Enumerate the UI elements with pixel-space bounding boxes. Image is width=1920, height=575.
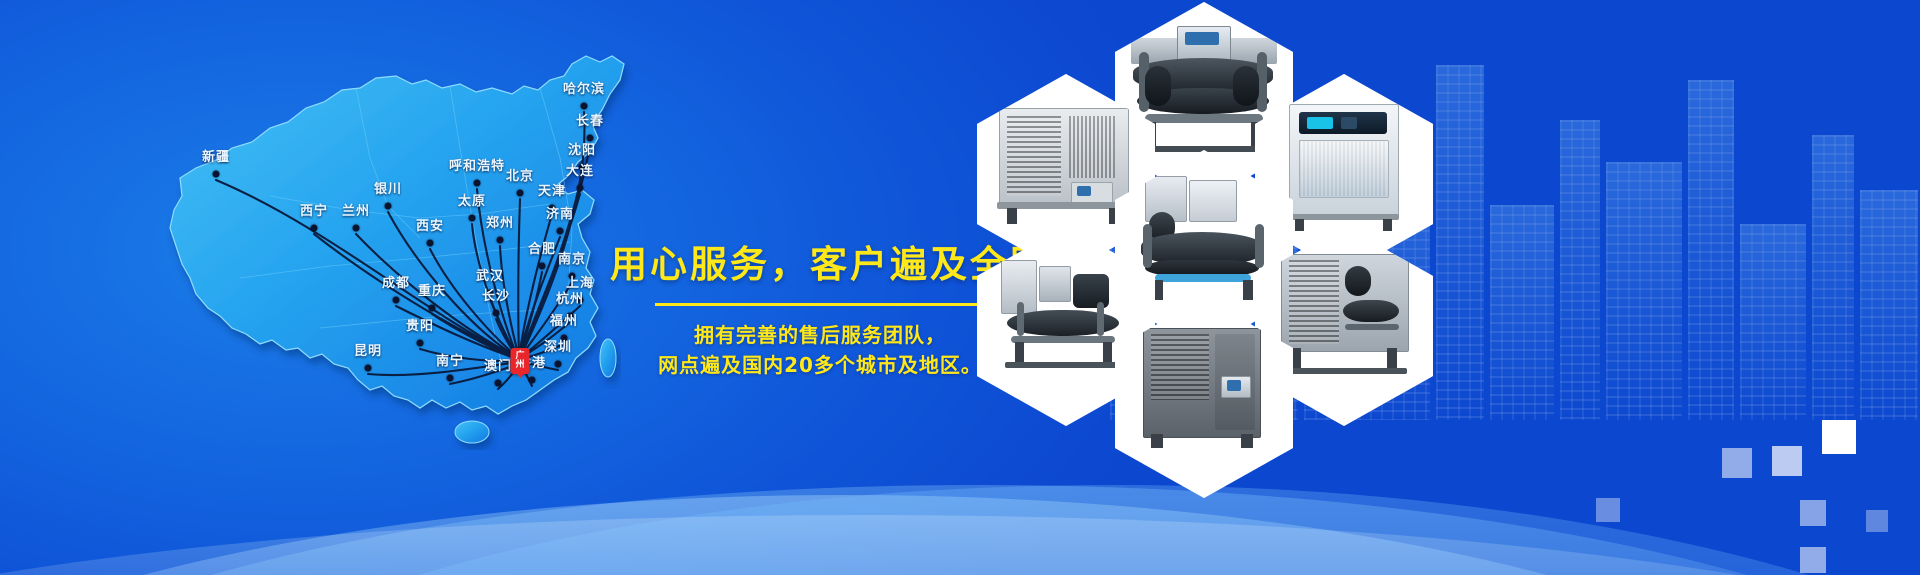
promo-banner: 哈尔滨长春沈阳呼和浩特北京天津大连新疆银川太原西宁兰州济南西安郑州合肥南京武汉上… — [0, 0, 1920, 575]
square-7 — [1866, 510, 1888, 532]
square-4 — [1800, 500, 1826, 526]
square-5 — [1596, 498, 1620, 522]
headline-divider — [655, 303, 985, 306]
square-2 — [1722, 448, 1752, 478]
product-hex-collage — [965, 0, 1525, 575]
square-3 — [1772, 446, 1802, 476]
square-1 — [1822, 420, 1856, 454]
square-6 — [1800, 547, 1826, 573]
